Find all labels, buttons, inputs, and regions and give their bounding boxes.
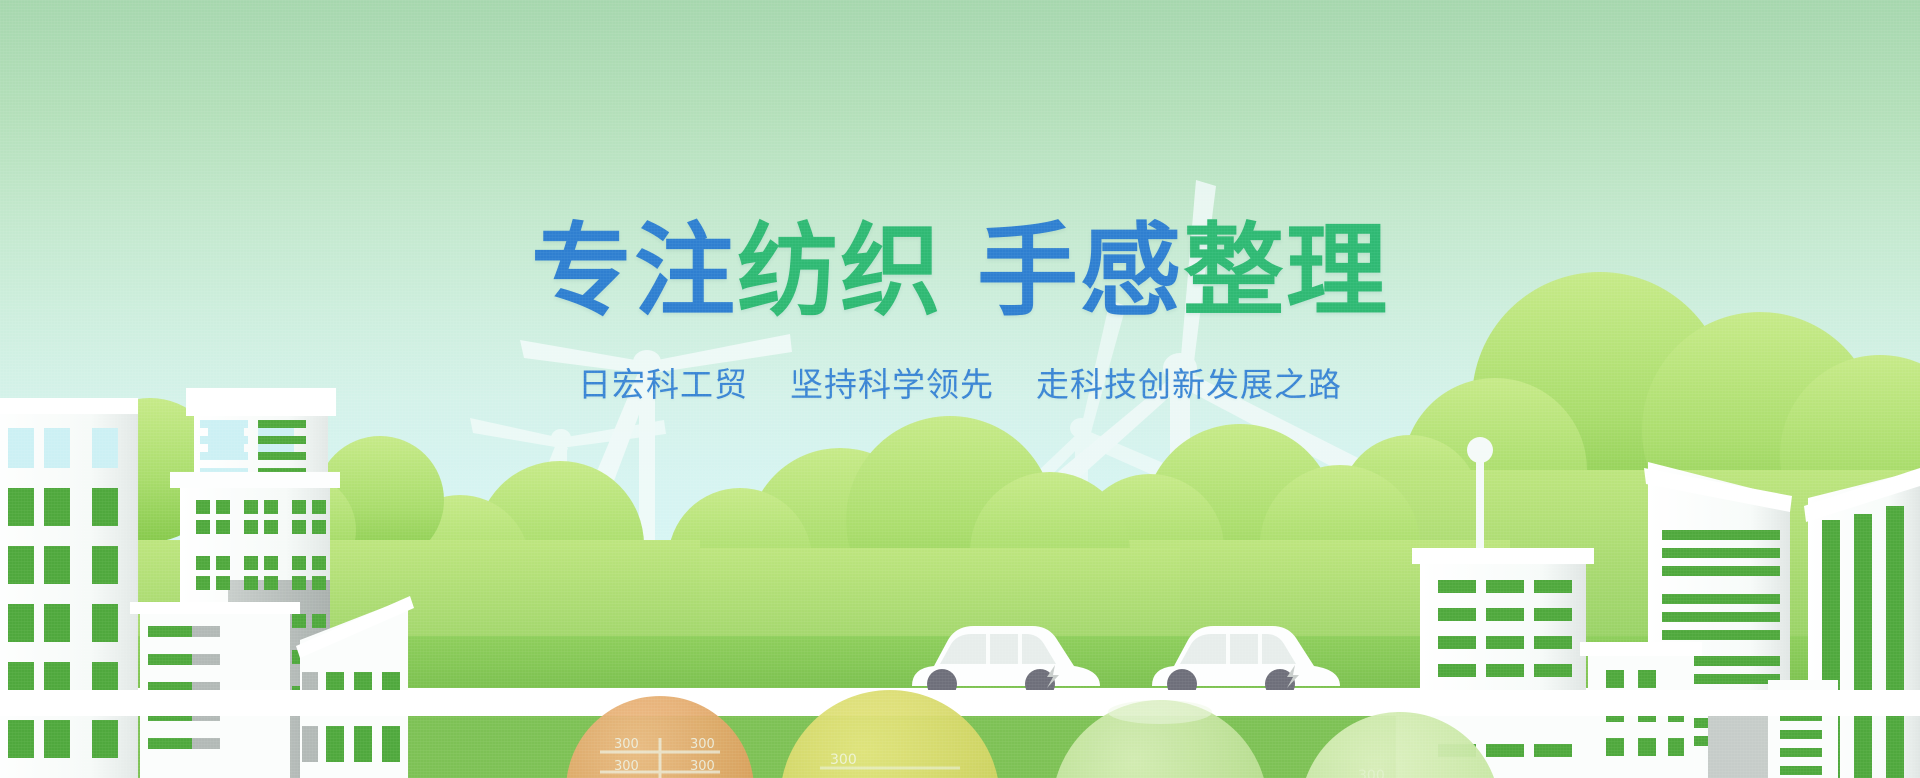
svg-text:300: 300 bbox=[1358, 768, 1385, 778]
svg-text:300: 300 bbox=[614, 759, 639, 774]
svg-text:300: 300 bbox=[614, 737, 639, 752]
flask-layer: 300 300 300 300 300 300 bbox=[0, 0, 1920, 778]
hero-banner: 300 300 300 300 300 300 bbox=[0, 0, 1920, 778]
flask-green bbox=[1052, 700, 1268, 778]
flask-orange: 300 300 300 300 bbox=[566, 696, 754, 778]
flask-yellow: 300 bbox=[780, 690, 1000, 778]
svg-text:300: 300 bbox=[830, 752, 857, 768]
flask-pale: 300 bbox=[1300, 712, 1500, 778]
svg-text:300: 300 bbox=[690, 759, 715, 774]
svg-text:300: 300 bbox=[690, 737, 715, 752]
